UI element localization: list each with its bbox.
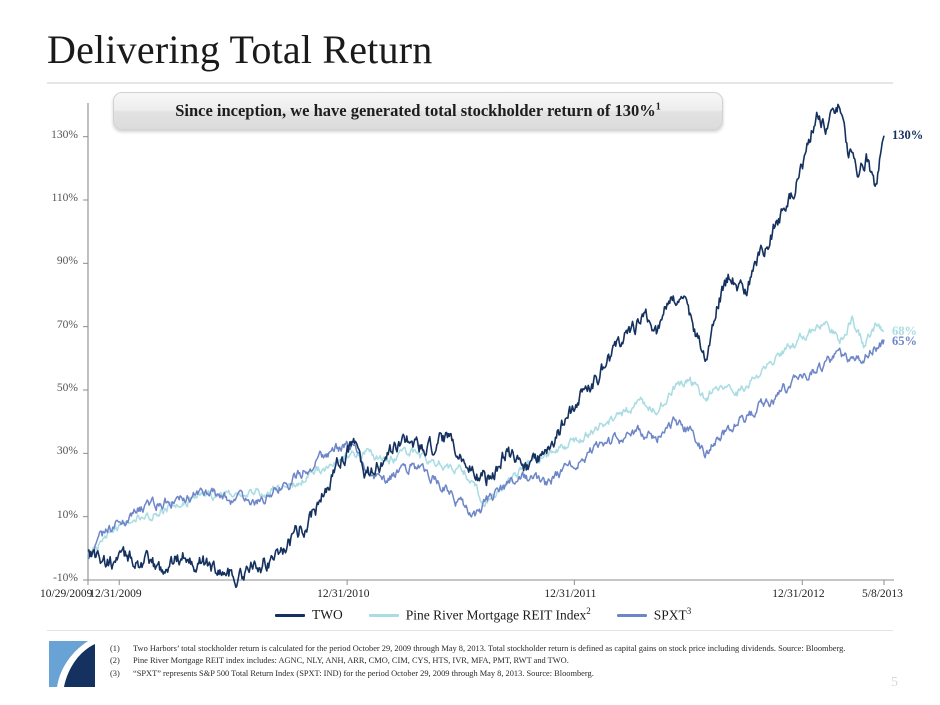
footnote-number: (1) bbox=[110, 643, 124, 655]
legend-item-pine-river-mortgage-reit-index[interactable]: Pine River Mortgage REIT Index2 bbox=[369, 606, 591, 624]
chart: -10%10%30%50%70%90%110%130% 10/29/200912… bbox=[0, 0, 940, 640]
series-line-spxt bbox=[88, 340, 884, 559]
x-axis-tick-label: 10/29/2009 bbox=[40, 588, 92, 600]
series-end-label: 65% bbox=[892, 334, 917, 349]
legend-label: TWO bbox=[312, 607, 343, 623]
x-axis-tick-label: 12/31/2010 bbox=[317, 588, 369, 600]
chart-plot-area bbox=[0, 0, 940, 640]
y-axis-tick-label: 130% bbox=[30, 129, 78, 141]
y-axis-tick-label: 10% bbox=[30, 509, 78, 521]
series-line-pine-river bbox=[88, 316, 884, 554]
x-axis-tick-label: 12/31/2012 bbox=[772, 588, 824, 600]
footer-divider bbox=[47, 630, 893, 631]
footnote-number: (3) bbox=[110, 668, 124, 680]
x-axis-tick-label: 12/31/2009 bbox=[89, 588, 141, 600]
y-axis-tick-label: 70% bbox=[30, 319, 78, 331]
footnote-text: “SPXT” represents S&P 500 Total Return I… bbox=[133, 668, 900, 680]
y-axis-tick-label: -10% bbox=[30, 572, 78, 584]
legend-footnote-marker: 2 bbox=[586, 606, 591, 616]
footnote-text: Pine River Mortgage REIT index includes:… bbox=[133, 655, 900, 667]
legend-color-swatch bbox=[369, 614, 399, 617]
footnote-row: (1)Two Harbors’ total stockholder return… bbox=[110, 643, 900, 655]
y-axis-tick-label: 110% bbox=[30, 192, 78, 204]
legend-label: SPXT3 bbox=[654, 606, 692, 624]
chart-legend: TWOPine River Mortgage REIT Index2SPXT3 bbox=[275, 605, 695, 625]
x-axis-tick-label: 12/31/2011 bbox=[544, 588, 596, 600]
slide: Delivering Total Return Since inception,… bbox=[0, 0, 940, 705]
footnotes: (1)Two Harbors’ total stockholder return… bbox=[110, 643, 900, 680]
legend-item-spxt[interactable]: SPXT3 bbox=[617, 606, 692, 624]
y-axis-tick-label: 90% bbox=[30, 255, 78, 267]
footnote-row: (3)“SPXT” represents S&P 500 Total Retur… bbox=[110, 668, 900, 680]
footnote-row: (2)Pine River Mortgage REIT index includ… bbox=[110, 655, 900, 667]
y-axis-tick-label: 50% bbox=[30, 382, 78, 394]
legend-item-two[interactable]: TWO bbox=[275, 607, 343, 623]
footnote-number: (2) bbox=[110, 655, 124, 667]
legend-color-swatch bbox=[617, 614, 647, 617]
company-logo-icon bbox=[48, 640, 96, 688]
legend-footnote-marker: 3 bbox=[687, 606, 692, 616]
legend-color-swatch bbox=[275, 614, 305, 617]
legend-label: Pine River Mortgage REIT Index2 bbox=[406, 606, 591, 624]
series-end-label: 130% bbox=[892, 128, 923, 143]
y-axis-tick-label: 30% bbox=[30, 445, 78, 457]
page-number: 5 bbox=[891, 675, 898, 691]
series-line-two bbox=[88, 104, 884, 587]
x-axis-tick-label: 5/8/2013 bbox=[862, 588, 903, 600]
footnote-text: Two Harbors’ total stockholder return is… bbox=[133, 643, 900, 655]
